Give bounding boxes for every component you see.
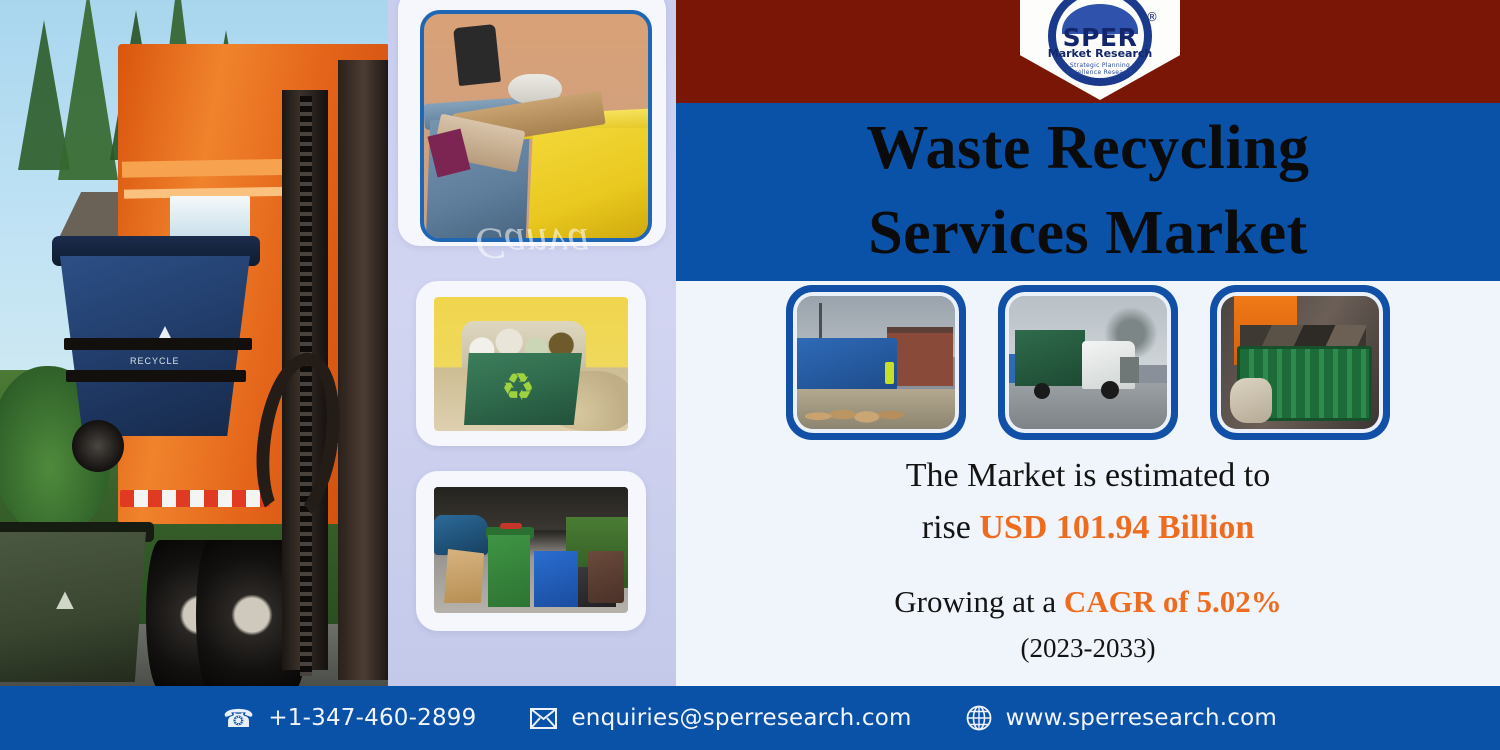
photo-frame-inner <box>1217 292 1383 433</box>
truck-lift-arm <box>338 60 388 680</box>
globe-icon <box>966 705 992 731</box>
cagr-statement: Growing at a CAGR of 5.02% (2023-2033) <box>676 578 1500 670</box>
photo-green-garbage-truck <box>1009 296 1167 429</box>
cagr-value: CAGR of 5.02% <box>1064 584 1282 619</box>
contact-website[interactable]: www.sperresearch.com <box>966 705 1277 731</box>
website-url: www.sperresearch.com <box>1006 705 1277 731</box>
photo-frame-inner <box>1005 292 1171 433</box>
estimate-line-1: The Market is estimated to <box>676 450 1500 502</box>
hero-photo-garbage-truck: ▲ RECYCLE ▲ <box>0 0 388 686</box>
phone-number: +1-347-460-2899 <box>268 705 476 731</box>
pine-tree-icon <box>58 0 118 180</box>
page-title: Waste Recycling Services Market <box>676 106 1500 276</box>
wet-road <box>1009 383 1167 428</box>
lifter-strap <box>66 370 246 382</box>
work-glove <box>1230 378 1271 423</box>
registered-trademark-icon: ® <box>1146 10 1158 24</box>
logo-tagline: Strategic Planning Excellence Research <box>1052 62 1148 76</box>
parked-car <box>434 515 488 555</box>
logo-subtitle: Market Research <box>1038 47 1162 60</box>
open-bin-lid <box>453 24 501 86</box>
photo-blue-recycling-truck <box>797 296 955 429</box>
market-value: USD 101.94 Billion <box>979 509 1254 546</box>
thumbnail-green-recycling-bin: ♻ <box>434 297 628 431</box>
title-line-2: Services Market <box>676 191 1500 276</box>
bin-label: RECYCLE <box>130 356 180 366</box>
title-line-1: Waste Recycling <box>676 106 1500 191</box>
bin-wheel <box>72 420 124 472</box>
paper-yard-bags <box>805 389 915 423</box>
growth-prefix: Growing at a <box>894 584 1056 619</box>
yellow-bin <box>528 128 652 238</box>
bin-logo-icon: ▲ <box>48 582 82 618</box>
contact-phone[interactable]: ☎ +1-347-460-2899 <box>223 705 476 731</box>
photo-strip <box>676 276 1500 448</box>
cagr-line: Growing at a CAGR of 5.02% <box>676 578 1500 626</box>
contact-email[interactable]: enquiries@sperresearch.com <box>530 705 911 731</box>
forecast-period: (2023-2033) <box>676 626 1500 670</box>
blue-recycling-box <box>534 551 578 607</box>
blue-truck <box>797 338 897 391</box>
envelope-icon <box>530 708 557 729</box>
recycle-symbol-icon: ♻ <box>496 367 540 409</box>
thumbnail-column: Canva ♻ <box>388 0 676 686</box>
thumbnail-recycling-bins <box>420 10 652 242</box>
market-estimate: The Market is estimated to rise USD 101.… <box>676 450 1500 554</box>
truck-wheel <box>1101 381 1119 399</box>
green-organics-bin <box>488 535 530 607</box>
estimate-line-2: rise USD 101.94 Billion <box>676 502 1500 554</box>
telephone-icon: ☎ <box>223 706 254 731</box>
thumbnail-curbside-bins <box>434 487 628 613</box>
photo-frame <box>786 285 966 440</box>
truck-body <box>1015 330 1085 386</box>
photo-frame <box>998 285 1178 440</box>
paper-yard-bag <box>444 549 484 603</box>
reflective-tape <box>120 490 270 507</box>
contact-footer: ☎ +1-347-460-2899 enquiries@sperresearch… <box>0 686 1500 750</box>
truck-grill <box>1120 357 1139 384</box>
brown-garden-bin <box>588 551 624 603</box>
lifter-strap <box>64 338 252 350</box>
email-address: enquiries@sperresearch.com <box>571 705 911 731</box>
rise-label: rise <box>922 509 971 546</box>
photo-electronic-waste-crate <box>1221 296 1379 429</box>
bin-logo-icon: ▲ <box>146 316 184 356</box>
bin-handle <box>500 523 522 529</box>
photo-frame <box>1210 285 1390 440</box>
photo-frame-inner <box>793 292 959 433</box>
marketing-banner: ▲ RECYCLE ▲ Canva <box>0 0 1500 750</box>
worker-vest <box>885 362 894 384</box>
